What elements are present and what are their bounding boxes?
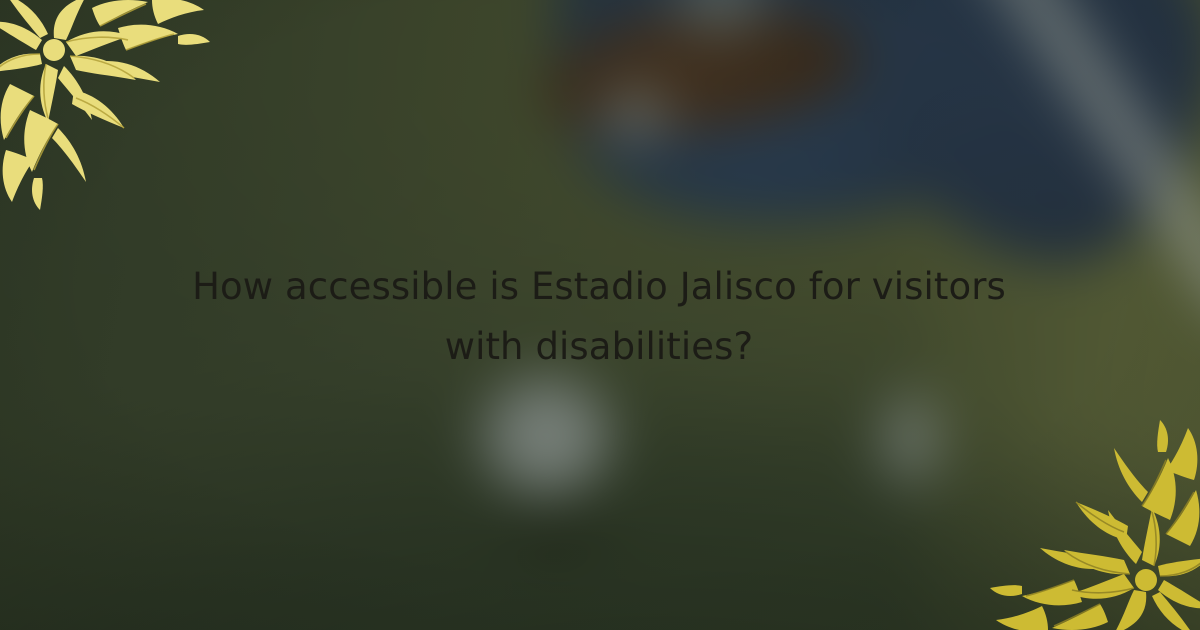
page-title: How accessible is Estadio Jalisco for vi… — [156, 257, 1042, 377]
social-share-card: How accessible is Estadio Jalisco for vi… — [0, 0, 1200, 630]
headline-banner: How accessible is Estadio Jalisco for vi… — [100, 200, 1098, 434]
